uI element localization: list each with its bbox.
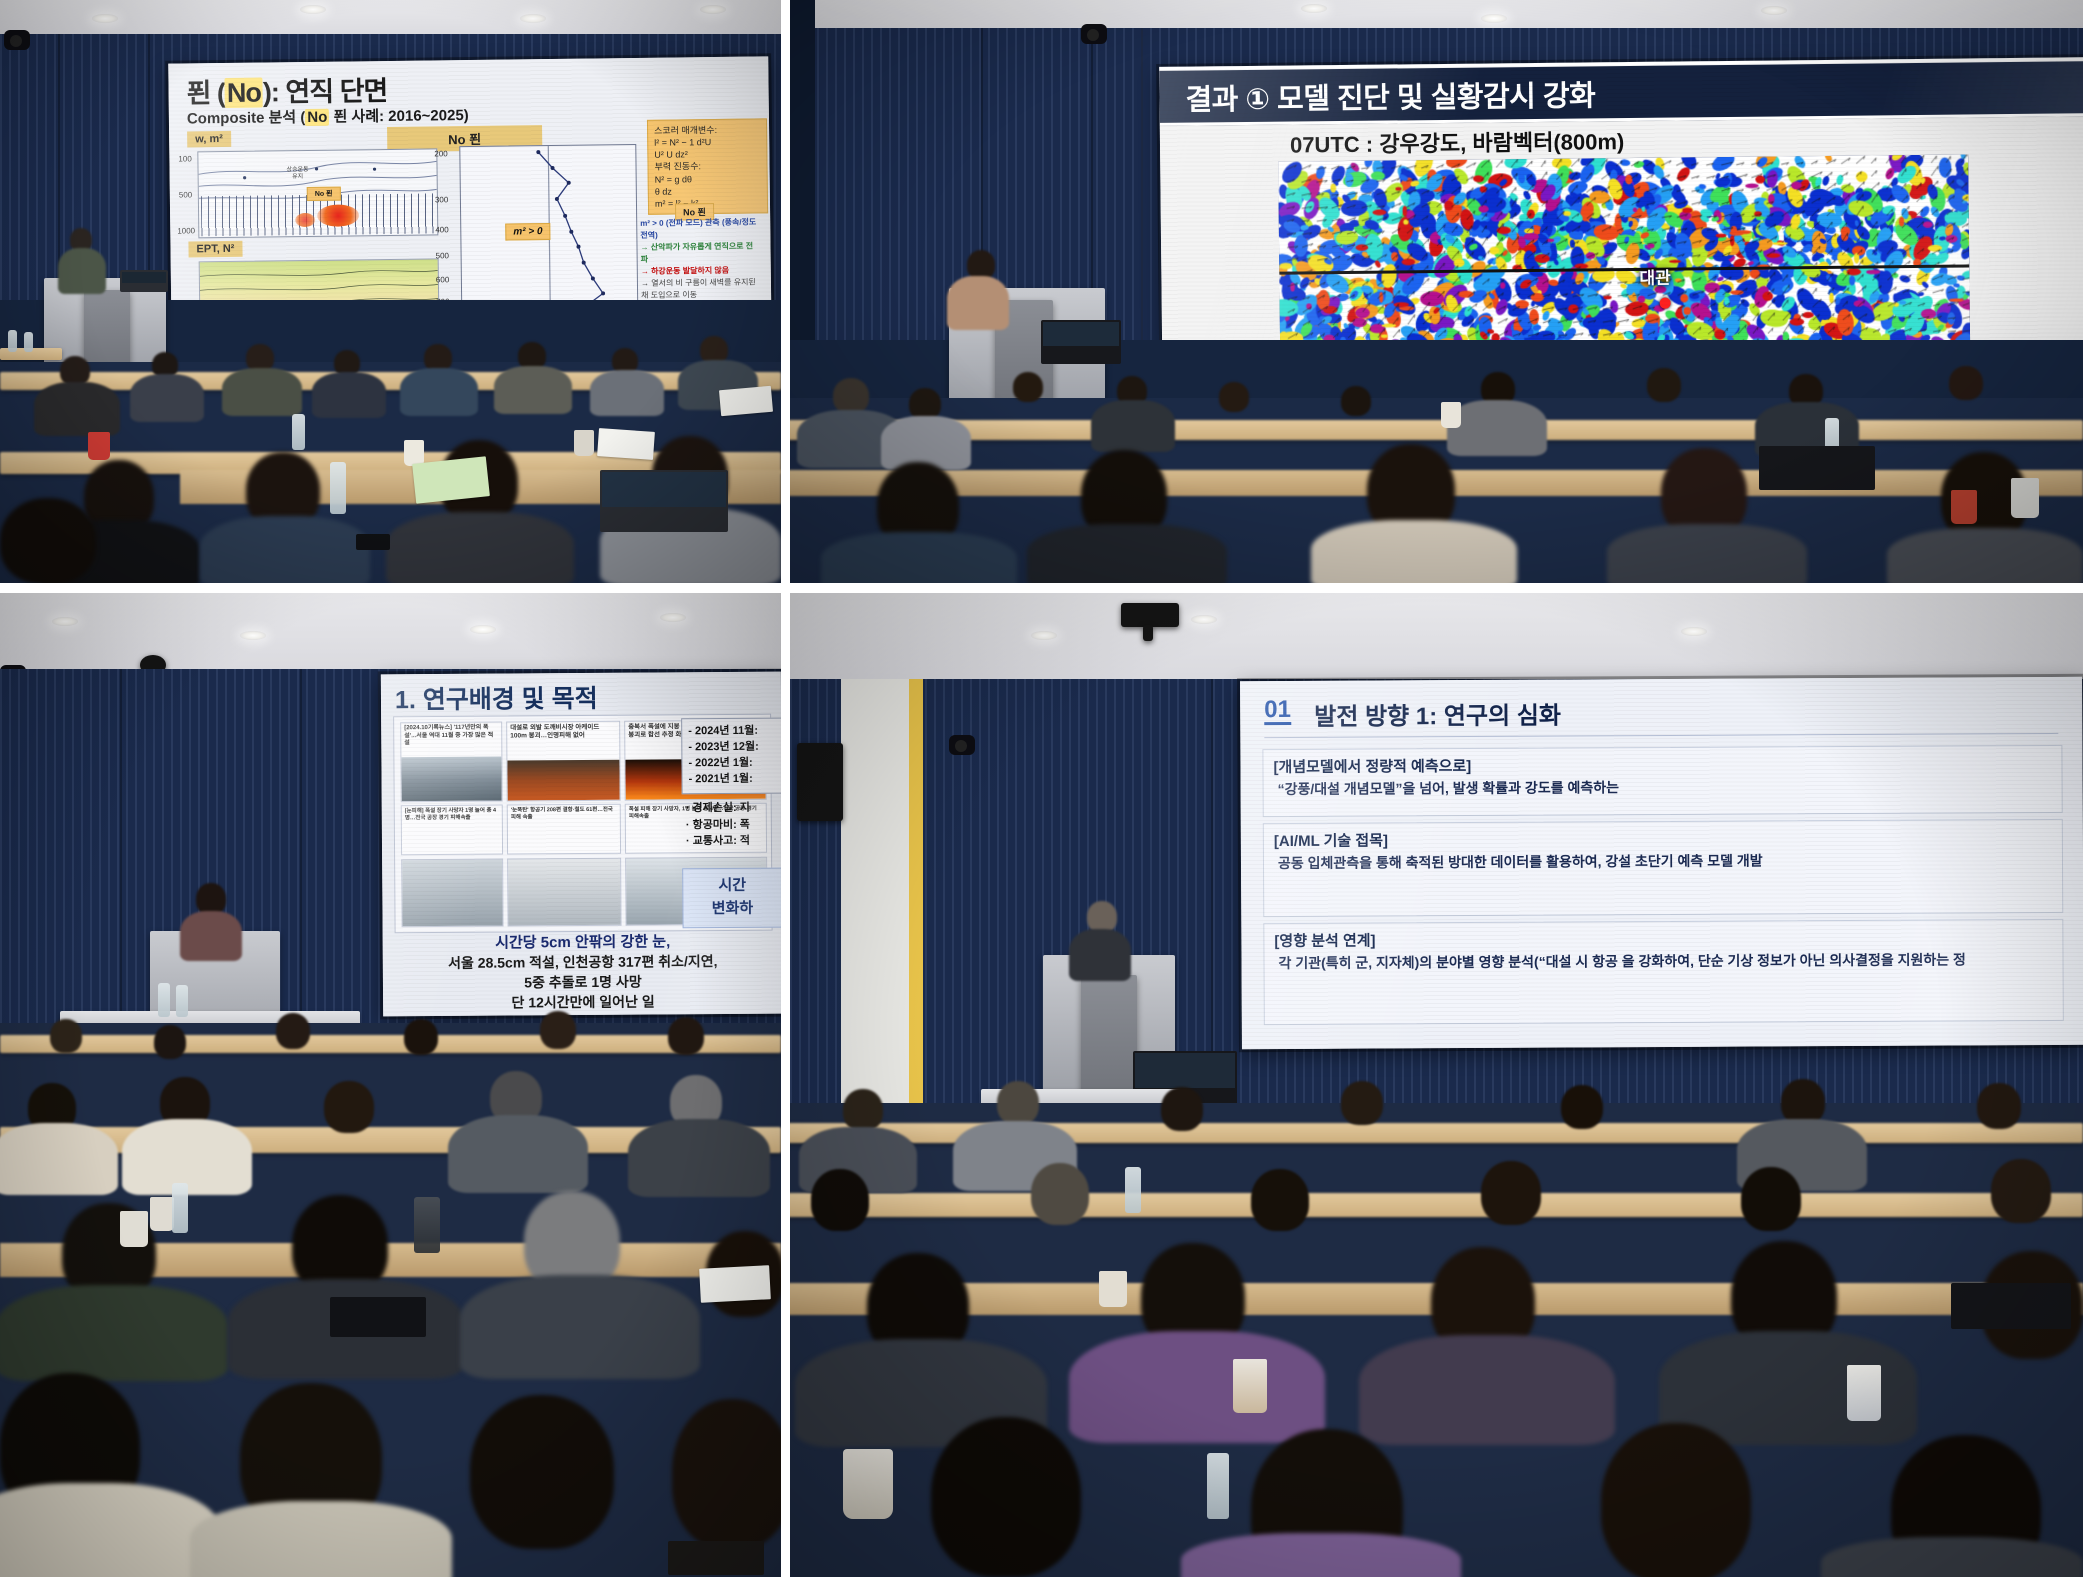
audience-head-front <box>470 1395 614 1549</box>
badge-no-foehn: No 푄 <box>307 187 341 201</box>
audience-head <box>1341 386 1371 416</box>
audience-body-front <box>1181 1533 1461 1577</box>
audience-body <box>448 1115 588 1193</box>
caption-line-4: 단 12시간만에 일어난 일 <box>383 991 781 1014</box>
water-bottle <box>158 983 170 1017</box>
water-bottle <box>1125 1167 1141 1213</box>
audience-head-front <box>1601 1423 1751 1577</box>
title-rule <box>1264 733 2058 738</box>
iced-drink-cup <box>2011 478 2039 518</box>
audience-body <box>222 368 302 416</box>
audience-head <box>811 1169 869 1231</box>
audience-body-front <box>386 512 574 583</box>
ceiling-light <box>1301 4 1327 13</box>
security-camera-icon <box>4 30 30 50</box>
audience-body-front <box>1069 1331 1325 1443</box>
audience-head <box>997 1081 1039 1125</box>
audience-body <box>400 368 478 416</box>
audience-head <box>154 1025 186 1059</box>
paper-cup <box>88 432 110 460</box>
scorer-parameter-formula: 스코러 매개변수: l² = N² − 1 d²U U² U dz² 부력 진동… <box>647 118 768 214</box>
projector-arm <box>1143 625 1153 641</box>
ceiling-light <box>1481 14 1507 23</box>
audience-head <box>1013 372 1043 402</box>
panel-bottom-left: 1. 연구배경 및 목적 [2024.10기록뉴스] '117년만의 폭설'..… <box>0 583 781 1577</box>
ceiling-light <box>520 14 546 23</box>
audience-head-front <box>931 1417 1081 1577</box>
content-card: [AI/ML 기술 접목] 공동 입체관측을 통해 축적된 방대한 데이터를 활… <box>1263 819 2063 917</box>
ceiling-light <box>470 625 496 634</box>
presenter-monitor <box>1041 320 1121 364</box>
audience-head <box>1219 382 1249 412</box>
ceiling-projector <box>1121 603 1179 627</box>
card-heading: [영향 분석 연계] <box>1264 920 2062 953</box>
ceiling-light <box>92 14 118 23</box>
audience-monitor <box>1759 446 1875 490</box>
slide-title-number: 01 <box>1264 697 1291 725</box>
audience-body <box>494 366 572 414</box>
location-marker <box>1660 298 1671 309</box>
audience-head-front <box>0 498 96 583</box>
paper-cup <box>120 1211 148 1247</box>
grid-gutter-vertical <box>781 0 790 1577</box>
water-bottle <box>1207 1453 1229 1519</box>
ceiling-light <box>660 613 686 622</box>
presenter-body <box>180 911 242 961</box>
wall-column-white <box>841 679 909 1119</box>
audience-laptop <box>1951 1283 2071 1329</box>
slide-title: 푄 (No): 연직 단면 <box>186 69 387 110</box>
paper-cup <box>843 1449 893 1519</box>
audience-head <box>1949 366 1983 400</box>
ceiling-light <box>240 631 266 640</box>
caption-line-2: 서울 28.5cm 적설, 인천공항 317편 취소/지연, <box>383 951 781 974</box>
audience-head <box>843 1089 883 1131</box>
news-headline: [2024.10기록뉴스] '117년만의 폭설'...서울 역대 11월 중 … <box>401 723 501 750</box>
audience-body-front <box>1359 1335 1615 1445</box>
water-bottle <box>292 414 305 450</box>
panel-top-right: 결과 ① 모델 진단 및 실황감시 강화 07UTC : 강우강도, 바람벡터(… <box>781 0 2083 583</box>
news-photo <box>507 760 619 801</box>
content-card: [개념모델에서 정량적 예측으로] “강풍/대설 개념모델”을 넘어, 발생 확… <box>1262 745 2062 817</box>
audience-body <box>130 374 204 422</box>
audience-desk <box>781 1193 2083 1217</box>
presenter-body <box>58 248 106 294</box>
water-bottle <box>24 332 33 352</box>
water-bottle <box>176 985 188 1017</box>
slide-title: 결과 ① 모델 진단 및 실황감시 강화 <box>1159 61 2083 126</box>
wall-column-yellow <box>909 679 923 1119</box>
audience-head <box>1161 1087 1203 1131</box>
handout <box>412 456 490 504</box>
badge-m2-positive: m² > 0 <box>505 223 550 241</box>
grid-gutter-horizontal <box>0 583 2083 593</box>
audience-body-front <box>0 1285 228 1381</box>
handout <box>719 386 773 416</box>
ceiling-light <box>1031 631 1057 640</box>
audience-head <box>1647 368 1681 402</box>
audience-head <box>1481 1161 1541 1225</box>
presenter-laptop <box>120 270 168 292</box>
tag-w-m2: w, m² <box>187 131 231 148</box>
map-label: 대관 <box>1639 264 1671 289</box>
audience-desk <box>0 1035 781 1053</box>
card-heading: [개념모델에서 정량적 예측으로] <box>1263 746 2061 779</box>
audience-head <box>1561 1085 1603 1129</box>
panel-top-left: 푄 (No): 연직 단면 Composite 분석 (No 푄 사례: 201… <box>0 0 781 583</box>
paper-cup <box>1441 402 1461 428</box>
audience-body-front <box>821 532 1017 583</box>
audience-head <box>1341 1081 1383 1125</box>
caption-line-3: 5중 추돌로 1명 사망 <box>383 971 781 994</box>
audience-body-front <box>460 1275 700 1379</box>
audience-body <box>312 372 386 418</box>
water-bottle <box>172 1183 188 1233</box>
audience-head <box>324 1081 374 1133</box>
audience-head <box>1251 1169 1309 1231</box>
card-heading: [AI/ML 기술 접목] <box>1264 820 2062 853</box>
ceiling-light <box>1191 615 1217 624</box>
summary-box: 시간 변화하 <box>682 868 781 929</box>
card-body: 각 기관(특히 군, 지자체)의 분야별 영향 분석(“대설 시 항공 을 강화… <box>1264 949 2062 982</box>
news-photo <box>401 757 501 802</box>
ceiling-light <box>52 617 78 626</box>
paper-cup <box>150 1197 174 1231</box>
slide-title-bar: 결과 ① 모델 진단 및 실황감시 강화 <box>1159 57 2083 126</box>
iced-drink-cup <box>1233 1359 1267 1413</box>
news-photo-card <box>401 859 503 928</box>
slide-subtitle: 07UTC : 강우강도, 바람벡터(800m) <box>1290 124 1625 159</box>
handout <box>699 1265 771 1303</box>
audience-laptop <box>356 534 390 550</box>
paper-cup <box>1951 490 1977 524</box>
audience-head <box>1031 1163 1089 1225</box>
tag-ept: EPT, N² <box>188 241 242 258</box>
slide-caption: 시간당 5cm 안팎의 강한 눈, 서울 28.5cm 적설, 인천공항 317… <box>383 930 781 1014</box>
caption-line-1: 시간당 5cm 안팎의 강한 눈, <box>383 930 781 954</box>
audience-body-front <box>1607 524 1807 583</box>
card-body: 공동 입체관측을 통해 축적된 방대한 데이터를 활용하여, 강설 초단기 예측… <box>1264 849 2062 882</box>
presenter-body <box>947 276 1009 330</box>
news-card: '눈폭탄' 항공기 208편 결항·철도 61편…전국 피해 속출 <box>507 804 621 855</box>
news-headline: 대설로 외발 도깨비시장 아케이드 100m 붕괴…인명피해 없어 <box>507 722 619 743</box>
news-card: 대설로 외발 도깨비시장 아케이드 100m 붕괴…인명피해 없어 <box>506 721 621 802</box>
card-body: “강풍/대설 개념모델”을 넘어, 발생 확률과 강도를 예측하는 <box>1264 775 2062 808</box>
audience-desk <box>781 420 2083 440</box>
audience-head <box>1741 1167 1801 1231</box>
audience-body-front <box>1821 1537 2083 1577</box>
audience-head <box>1977 1083 2021 1129</box>
audience-body-front <box>200 516 370 583</box>
water-bottle <box>8 330 17 352</box>
iced-drink-cup <box>1847 1365 1881 1421</box>
audience-body-front <box>1311 520 1517 583</box>
audience-laptop <box>600 470 728 532</box>
audience-head <box>50 1019 82 1053</box>
ceiling <box>0 583 781 675</box>
news-headline: '눈폭탄' 항공기 208편 결항·철도 61편…전국 피해 속출 <box>508 805 620 824</box>
slide-title: 1. 연구배경 및 목적 <box>395 679 598 716</box>
ceiling-light <box>700 5 726 14</box>
audience-head-front <box>672 1399 781 1549</box>
date-bullets: - 2024년 11월: - 2023년 12월: - 2022년 1월: - … <box>681 718 781 795</box>
audience-body-front <box>1027 524 1227 583</box>
thermos <box>414 1197 440 1253</box>
audience-body <box>628 1119 770 1197</box>
slide-title: 발전 방향 1: 연구의 심화 <box>1314 696 1561 732</box>
ceiling-light <box>1761 6 1787 15</box>
audience-body-front <box>0 1483 220 1577</box>
slide-subtitle: Composite 분석 (No 푄 사례: 2016~2025) <box>187 104 469 128</box>
wall-speaker <box>797 743 843 821</box>
presenter-body <box>1069 929 1131 981</box>
news-photo-card <box>507 858 621 927</box>
photo-grid: 푄 (No): 연직 단면 Composite 분석 (No 푄 사례: 201… <box>0 0 2083 1577</box>
audience-body <box>1447 400 1547 456</box>
news-card: [눈피해] 폭설 장기 사망자 1명 늘어 총 4명…전국 공장 경기 피해속출 <box>401 805 503 856</box>
news-card: [2024.10기록뉴스] '117년만의 폭설'...서울 역대 11월 중 … <box>400 722 503 803</box>
audience-laptop <box>330 1297 426 1337</box>
news-headline: [눈피해] 폭설 장기 사망자 1명 늘어 총 4명…전국 공장 경기 피해속출 <box>402 806 502 824</box>
cross-section-plot: No 푄 상승운동유지 100 500 1000 <box>197 148 438 238</box>
water-bottle <box>330 462 346 514</box>
audience-head <box>276 1013 310 1049</box>
audience-head <box>668 1017 704 1055</box>
audience-body <box>1091 400 1175 452</box>
audience-head <box>404 1019 438 1055</box>
audience-body-front <box>1887 528 2083 583</box>
audience-head <box>540 1011 576 1049</box>
projection-screen: 01 발전 방향 1: 연구의 심화 [개념모델에서 정량적 예측으로] “강풍… <box>1240 677 2083 1049</box>
audience-head <box>1991 1159 2051 1223</box>
impact-bullets: · 경제손실: 지 · 항공마비: 폭 · 교통사고: 적 <box>686 800 781 850</box>
audience-head <box>833 378 869 414</box>
audience-body <box>34 382 120 436</box>
handout <box>597 428 655 460</box>
audience-body <box>0 1123 118 1195</box>
ceiling-light <box>300 5 326 14</box>
content-card: [영향 분석 연계] 각 기관(특히 군, 지자체)의 분야별 영향 분석(“대… <box>1263 919 2064 1025</box>
security-camera-icon <box>1081 24 1107 44</box>
ceiling-light <box>1681 627 1707 636</box>
panel-bottom-right: 01 발전 방향 1: 연구의 심화 [개념모델에서 정량적 예측으로] “강풍… <box>781 583 2083 1577</box>
paper-cup <box>1099 1271 1127 1307</box>
paper-cup <box>574 430 594 456</box>
audience-body-front <box>190 1501 452 1577</box>
projection-screen: 1. 연구배경 및 목적 [2024.10기록뉴스] '117년만의 폭설'..… <box>381 672 781 1017</box>
audience-body <box>590 370 664 416</box>
ceiling <box>781 583 2083 683</box>
security-camera-icon <box>949 735 975 755</box>
audience-tablet <box>668 1541 764 1575</box>
